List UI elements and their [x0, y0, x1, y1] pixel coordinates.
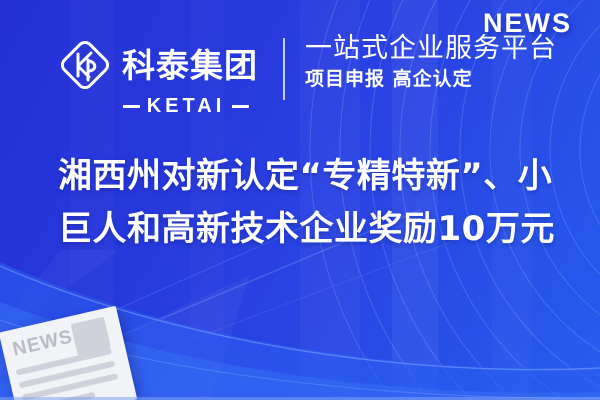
tagline-block: 一站式企业服务平台 项目申报 高企认定: [305, 33, 557, 91]
tagline-secondary: 项目申报 高企认定: [305, 69, 557, 91]
brand-name-en-row: KETAI: [67, 96, 250, 116]
news-banner: 科泰集团 KETAI 一站式企业服务平台 项目申报 高企认定 NEWS 湘西州对…: [0, 0, 600, 400]
brand-logo-row: 科泰集团: [58, 38, 258, 92]
banner-header: 科泰集团 KETAI 一站式企业服务平台 项目申报 高企认定 NEWS: [0, 0, 600, 135]
brand-name-cn: 科泰集团: [122, 49, 258, 82]
headline-line-2: 巨人和高新技术企业奖励10万元: [58, 203, 558, 256]
header-divider: [283, 38, 285, 100]
headline-line-1: 湘西州对新认定“专精特新”、小: [58, 150, 558, 203]
dash-right-icon: [232, 105, 249, 108]
news-label: NEWS: [483, 8, 572, 39]
headline: 湘西州对新认定“专精特新”、小 巨人和高新技术企业奖励10万元: [58, 150, 558, 256]
brand-logo[interactable]: 科泰集团 KETAI: [58, 38, 258, 116]
brand-name-en: KETAI: [147, 96, 226, 116]
dash-left-icon: [123, 105, 140, 108]
kp-diamond-logo-icon: [58, 38, 112, 92]
